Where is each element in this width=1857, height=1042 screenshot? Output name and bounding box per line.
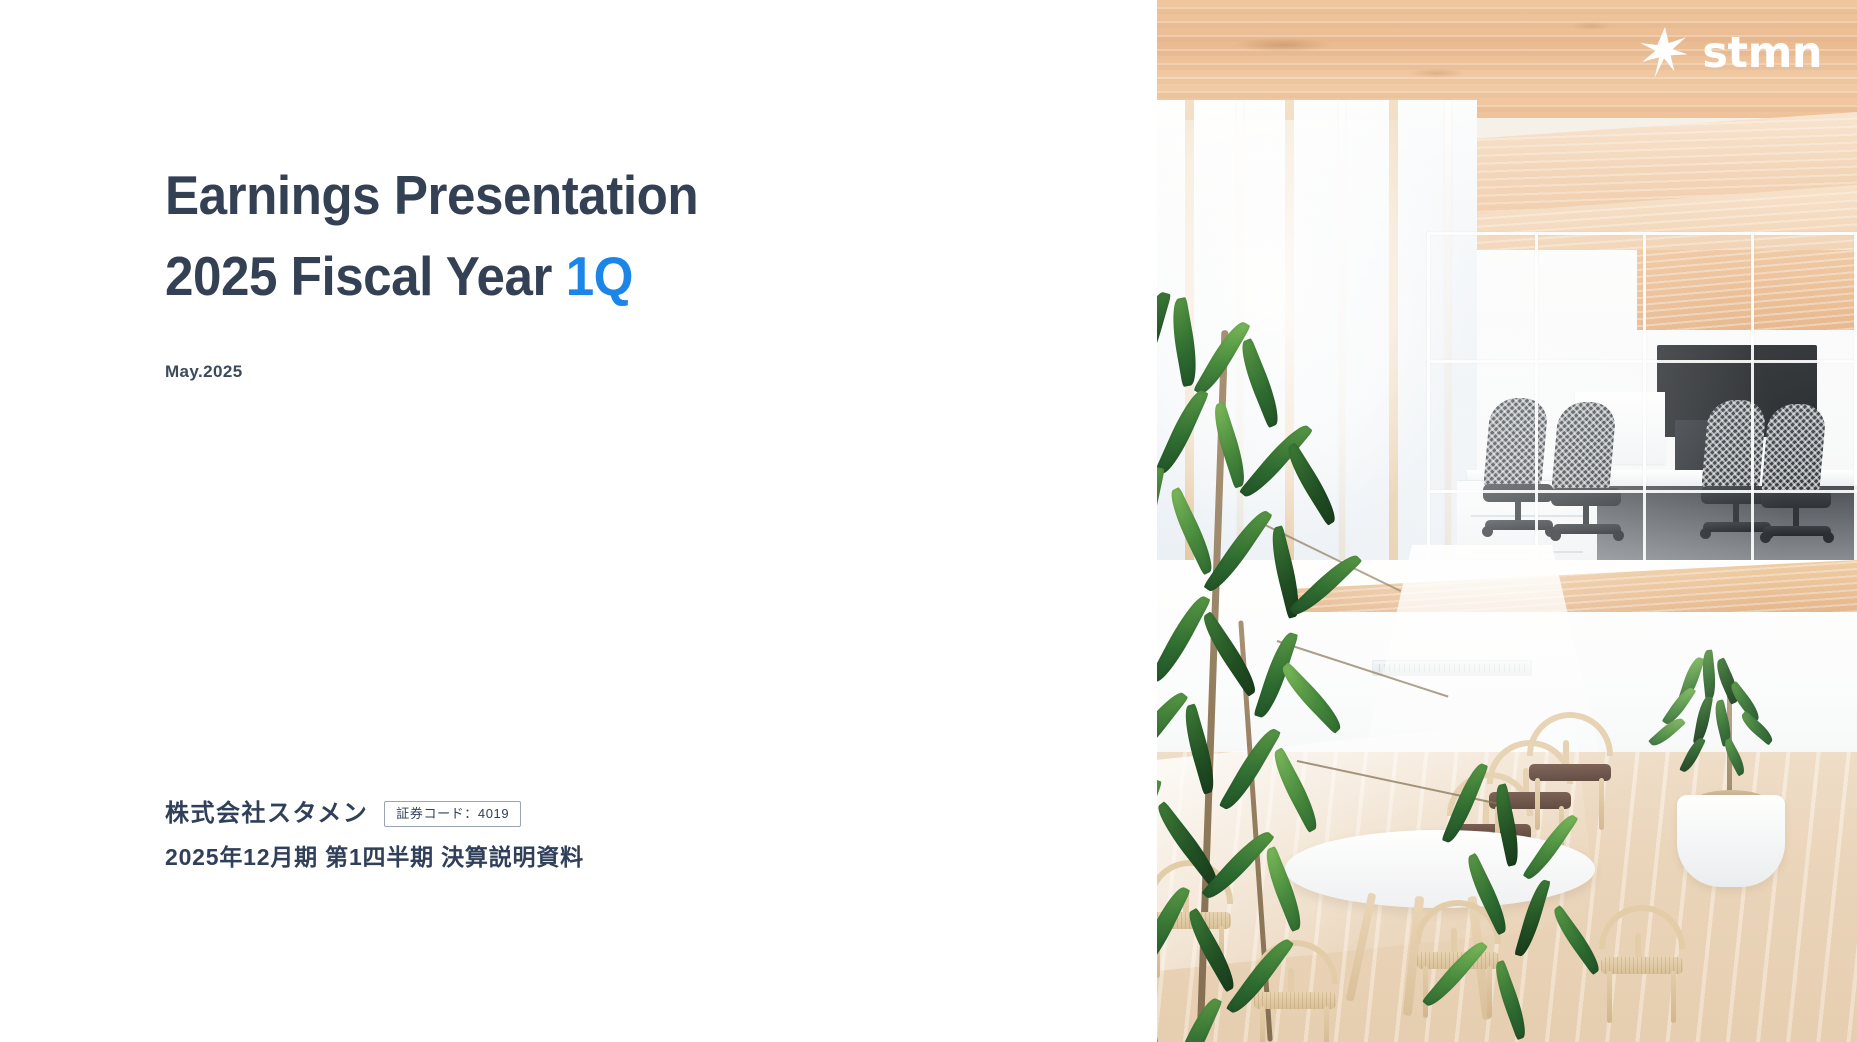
company-block: 株式会社スタメン 証券コード：4019 2025年12月期 第1四半期 決算説明… [165,800,965,873]
stmn-wordmark: stmn [1702,32,1822,75]
sparkle-star-icon [1640,27,1688,79]
chair-leg [1423,966,1428,1018]
rail [1535,232,1538,592]
rail [1427,232,1857,235]
headline-line-2: 2025 Fiscal Year 1Q [165,236,1002,317]
presentation-date: May.2025 [165,362,243,382]
left-text-panel: Earnings Presentation 2025 Fiscal Year 1… [0,0,1157,1042]
title-slide: Earnings Presentation 2025 Fiscal Year 1… [0,0,1857,1042]
photo-canvas [1157,0,1857,1042]
chair-leg [1599,778,1604,830]
chair-leg [1671,971,1676,1023]
company-name: 株式会社スタメン [165,800,368,829]
chair-leg [1324,1006,1329,1042]
white-grid-rails [1427,232,1857,592]
chair-leg [1607,971,1612,1023]
office-interior-photo: stmn [1157,0,1857,1042]
plant-pot [1677,795,1785,887]
headline-line-2-prefix: 2025 Fiscal Year [165,245,566,307]
rail [1643,232,1646,592]
chair-leg [1260,1006,1265,1042]
headline-line-1: Earnings Presentation [165,155,1002,236]
chair-leg [1487,966,1492,1018]
company-row: 株式会社スタメン 証券コード：4019 [165,800,965,829]
chair-leg [1535,778,1540,830]
rail [1427,232,1430,592]
rail [1427,490,1857,493]
headline-block: Earnings Presentation 2025 Fiscal Year 1… [165,155,1065,318]
fiscal-period-line: 2025年12月期 第1四半期 決算説明資料 [165,843,965,873]
rail [1751,232,1754,592]
rail [1427,360,1857,363]
headline-quarter-accent: 1Q [566,245,633,307]
ticker-code-badge: 証券コード：4019 [384,801,521,827]
stmn-logo: stmn [1640,27,1822,79]
